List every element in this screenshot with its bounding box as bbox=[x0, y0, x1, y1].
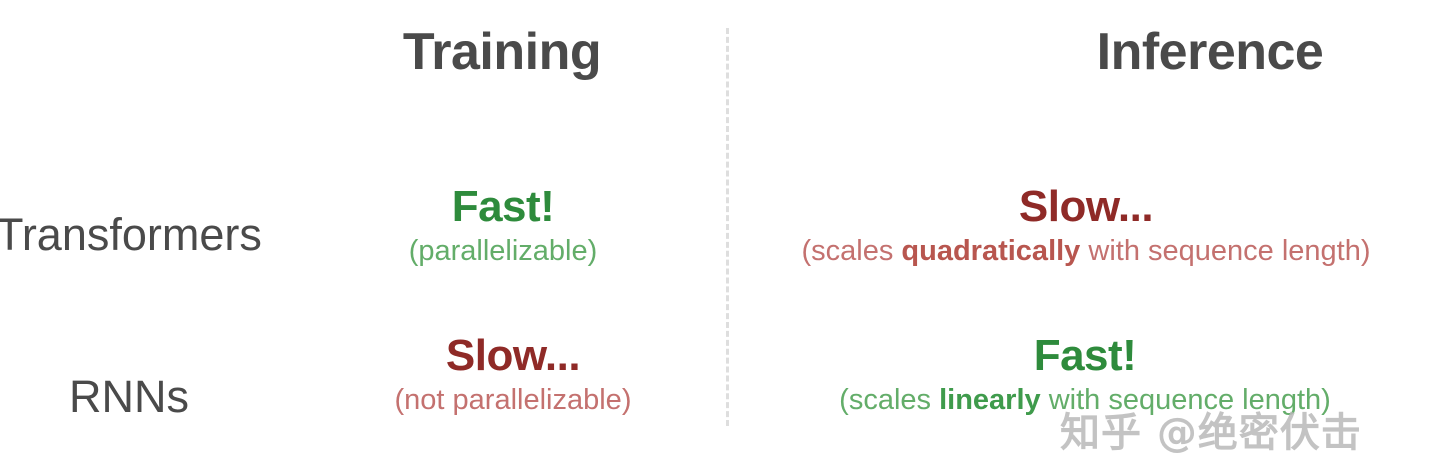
cell-note: (not parallelizable) bbox=[288, 385, 738, 417]
column-header-inference: Inference bbox=[727, 26, 1440, 78]
cell-note-prefix: (parallelizable) bbox=[409, 235, 598, 267]
watermark: 知乎 @绝密伏击 bbox=[1060, 400, 1362, 458]
cell-note: (parallelizable) bbox=[288, 236, 718, 268]
cell-verdict: Slow... bbox=[740, 184, 1432, 230]
cell-note-prefix: (not parallelizable) bbox=[395, 384, 632, 416]
cell-note-emphasis: linearly bbox=[939, 384, 1041, 416]
cell-note-suffix: with sequence length) bbox=[1080, 235, 1370, 267]
cell-note-emphasis: quadratically bbox=[901, 235, 1080, 267]
cell-verdict: Fast! bbox=[288, 184, 718, 230]
cell-note-prefix: (scales bbox=[801, 235, 901, 267]
cell-rnns-training: Slow... (not parallelizable) bbox=[288, 333, 738, 417]
cell-verdict: Slow... bbox=[288, 333, 738, 379]
cell-transformers-inference: Slow... (scales quadratically with seque… bbox=[740, 184, 1432, 268]
cell-note: (scales quadratically with sequence leng… bbox=[740, 236, 1432, 268]
row-label-transformers: Transformers bbox=[0, 212, 268, 257]
cell-transformers-training: Fast! (parallelizable) bbox=[288, 184, 718, 268]
cell-verdict: Fast! bbox=[740, 333, 1430, 379]
row-label-rnns: RNNs bbox=[0, 374, 258, 419]
cell-note-prefix: (scales bbox=[839, 384, 939, 416]
